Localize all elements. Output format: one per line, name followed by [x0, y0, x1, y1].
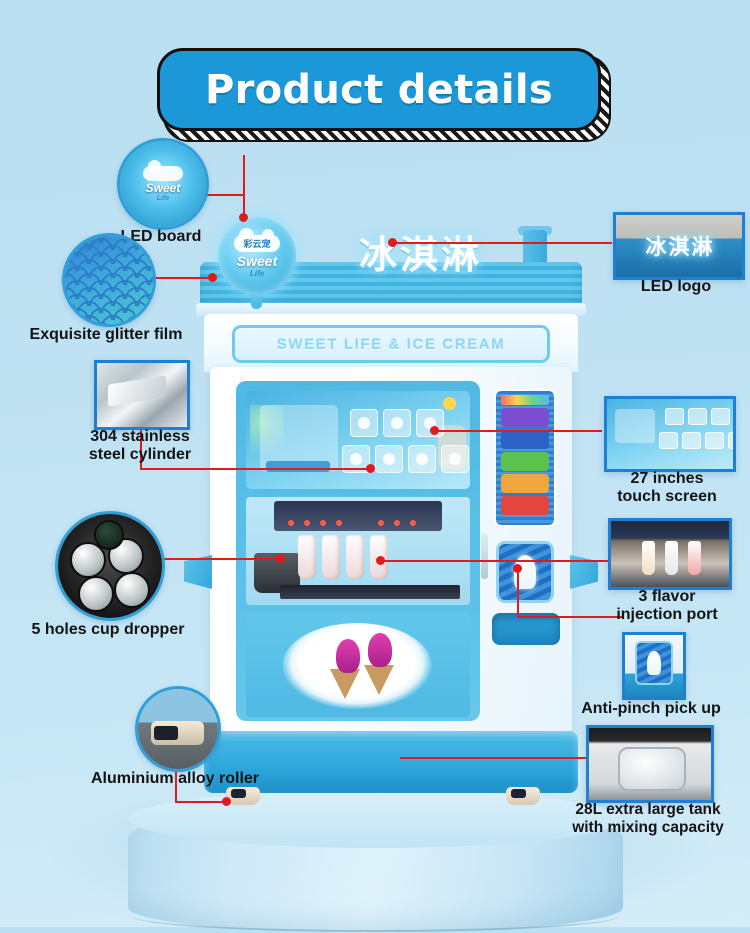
callout-tank: 28L extra large tank with mixing capacit… — [586, 725, 714, 803]
led-sign-cn-text: 彩云宠 — [243, 237, 270, 250]
flavor-port-art — [611, 521, 729, 587]
connector-touch-screen — [434, 430, 602, 432]
anchor-dot-roller — [222, 797, 231, 806]
indicator-lamp — [320, 520, 326, 526]
machine-header-banner-text: SWEET LIFE & ICE CREAM — [277, 336, 506, 353]
product-row-2 — [659, 432, 736, 449]
flavor-bottle — [642, 541, 655, 575]
callout-label-led-logo: LED logo — [613, 278, 739, 296]
machinery-tray — [280, 585, 460, 599]
cloud-icon — [143, 166, 183, 181]
fish-scale-pattern — [65, 236, 153, 324]
anchor-dot-steel-cylinder — [366, 464, 375, 473]
callout-label-tank: 28L extra large tank with mixing capacit… — [558, 801, 738, 836]
lemon-icon — [443, 397, 456, 410]
indicator-lamp — [394, 520, 400, 526]
stainless-cylinder-art — [97, 363, 187, 427]
callout-glitter-film: Exquisite glitter film — [62, 233, 156, 327]
stainless-cylinder-thumbnail — [94, 360, 190, 430]
anti-pinch-art — [625, 635, 683, 697]
touch-screen-thumbnail — [604, 396, 736, 472]
anti-pinch-pickup-panel — [496, 541, 554, 603]
cloud-icon: 彩云宠 — [234, 235, 280, 252]
callout-alloy-roller: Aluminium alloy roller — [135, 686, 221, 772]
machine-right-column — [490, 381, 562, 721]
callout-label-anti-pinch: Anti-pinch pick up — [564, 700, 738, 718]
callout-label-touch-screen: 27 inches touch screen — [602, 470, 732, 506]
icecream-swirl-graphic — [336, 639, 360, 673]
led-char-1: 冰 — [359, 224, 397, 279]
indicator-lamp — [410, 520, 416, 526]
page-title-banner: Product details — [157, 48, 601, 131]
tank-thumbnail — [586, 725, 714, 803]
product-cell[interactable] — [408, 445, 436, 473]
connector-led-logo — [392, 242, 612, 244]
product-cell — [688, 408, 707, 425]
led-char-3: 淋 — [441, 224, 479, 279]
callout-touch-screen: 27 inches touch screen — [604, 396, 736, 472]
cone-graphic — [330, 669, 360, 699]
connector-flavor-port — [380, 560, 608, 562]
callout-label-glitter-film: Exquisite glitter film — [15, 326, 197, 344]
icecream-swirl-graphic — [368, 633, 392, 667]
callout-steel-cylinder: 304 stainless steel cylinder — [94, 360, 190, 430]
led-sign-brand: Sweet — [237, 253, 277, 269]
product-cell[interactable] — [441, 445, 469, 473]
connector-tank — [400, 757, 590, 759]
anti-pinch-thumbnail — [622, 632, 686, 700]
callout-label-steel-cylinder: 304 stainless steel cylinder — [70, 428, 210, 464]
indicator-lamp — [304, 520, 310, 526]
door-handle[interactable] — [481, 533, 488, 579]
instruction-step-2 — [501, 430, 549, 449]
led-logo-char-3: 淋 — [692, 231, 713, 261]
promo-card — [615, 409, 655, 443]
alloy-roller-art — [138, 689, 218, 769]
callout-led-board: Sweet Life LED board — [117, 138, 209, 230]
led-char-2: 淇 — [400, 224, 438, 279]
cup-dropper-thumbnail — [55, 511, 165, 621]
instruction-panel — [494, 389, 556, 527]
connector-roller-h — [175, 801, 225, 803]
instruction-panel-title — [501, 395, 549, 405]
led-logo-char-1: 冰 — [646, 231, 667, 261]
machine-cabinet — [210, 367, 572, 735]
side-wing-left — [184, 555, 212, 589]
cup-hole — [114, 572, 150, 608]
led-board-brand: Sweet — [146, 181, 181, 195]
led-board-thumbnail: Sweet Life — [117, 138, 209, 230]
screen-promo-label — [266, 461, 330, 472]
softserve-icon — [647, 651, 661, 675]
anchor-dot-antipinch — [513, 564, 522, 573]
product-cell — [705, 432, 724, 449]
flavor-bottle — [665, 541, 678, 575]
anchor-dot-led-board — [239, 213, 248, 222]
flavor-bottle — [688, 541, 701, 575]
icecream-icon — [449, 453, 461, 465]
instruction-step-3 — [501, 452, 549, 471]
callout-label-cup-dropper: 5 holes cup dropper — [13, 621, 203, 639]
cone-graphic — [364, 665, 394, 695]
callout-flavor-port: 3 flavor injection port — [608, 518, 732, 590]
led-board-sub: Life — [157, 195, 169, 202]
product-details-infographic: Product details 彩云宠 Sweet Life 冰 淇 淋 SWE… — [0, 0, 750, 927]
pickup-door-icon — [635, 641, 673, 685]
internal-machinery — [246, 497, 470, 605]
product-cell[interactable] — [375, 445, 403, 473]
indicator-lamp — [378, 520, 384, 526]
connector-cup-dropper — [160, 558, 280, 560]
product-cell — [711, 408, 730, 425]
alloy-roller-thumbnail — [135, 686, 221, 772]
icecream-icon — [383, 453, 395, 465]
alloy-roller-caster — [506, 787, 540, 805]
product-cell — [659, 432, 678, 449]
anchor-dot-led-logo — [388, 238, 397, 247]
led-sign-sub: Life — [250, 269, 264, 278]
product-cell[interactable] — [383, 409, 411, 437]
anchor-dot-flavor-port — [376, 556, 385, 565]
vending-machine: 彩云宠 Sweet Life 冰 淇 淋 SWEET LIFE & ICE CR… — [196, 215, 586, 810]
icecream-icon — [391, 417, 403, 429]
callout-label-alloy-roller: Aluminium alloy roller — [39, 770, 311, 788]
alloy-roller-caster — [226, 787, 260, 805]
product-cell[interactable] — [350, 409, 378, 437]
product-cell — [682, 432, 701, 449]
anchor-dot-cup-dropper — [276, 554, 285, 563]
led-chinese-characters: 冰 淇 淋 — [324, 221, 514, 281]
glitter-film-thumbnail — [62, 233, 156, 327]
callout-led-logo: 冰 淇 淋 LED logo — [613, 212, 745, 280]
anchor-dot-glitter-film — [208, 273, 217, 282]
indicator-lamp — [288, 520, 294, 526]
connector-led-board — [243, 155, 245, 217]
anchor-dot-touch-screen — [430, 426, 439, 435]
flavor-port-thumbnail — [608, 518, 732, 590]
instruction-step-1 — [501, 408, 549, 427]
instruction-step-5 — [501, 496, 549, 515]
touch-screen-art — [607, 399, 733, 469]
led-logo-char-2: 淇 — [669, 231, 690, 261]
led-board-art: Sweet Life — [120, 141, 206, 227]
touch-screen-display[interactable] — [246, 391, 470, 489]
pedestal-rim — [132, 900, 619, 932]
icecream-icon — [350, 453, 362, 465]
product-cell — [728, 432, 736, 449]
machine-header-banner: SWEET LIFE & ICE CREAM — [232, 325, 550, 363]
indicator-lamp — [336, 520, 342, 526]
nozzle — [322, 535, 340, 579]
cup-hole — [94, 520, 124, 550]
product-row-1 — [665, 408, 730, 425]
cup-hole — [78, 576, 114, 612]
instruction-step-4 — [501, 474, 549, 493]
connector-steel-cylinder-h — [140, 468, 370, 470]
callout-anti-pinch: Anti-pinch pick up — [622, 632, 686, 700]
cup-dropper-art — [58, 514, 162, 618]
dispenser-control-head — [274, 501, 442, 531]
title-box: Product details — [157, 48, 601, 131]
lower-graphic-panel — [246, 613, 470, 717]
tank-art — [589, 728, 711, 800]
led-board-sign: 彩云宠 Sweet Life — [218, 217, 296, 295]
connector-antipinch-v — [517, 568, 519, 618]
product-cell — [665, 408, 684, 425]
nozzle — [346, 535, 364, 579]
icecream-icon — [416, 453, 428, 465]
callout-label-flavor-port: 3 flavor injection port — [600, 588, 734, 624]
nozzle — [298, 535, 316, 579]
page-title: Product details — [205, 67, 553, 113]
callout-cup-dropper: 5 holes cup dropper — [55, 511, 165, 621]
led-logo-thumbnail: 冰 淇 淋 — [613, 212, 745, 280]
flavor-injection-nozzles — [298, 535, 388, 579]
led-logo-art: 冰 淇 淋 — [616, 215, 742, 277]
icecream-icon — [358, 417, 370, 429]
